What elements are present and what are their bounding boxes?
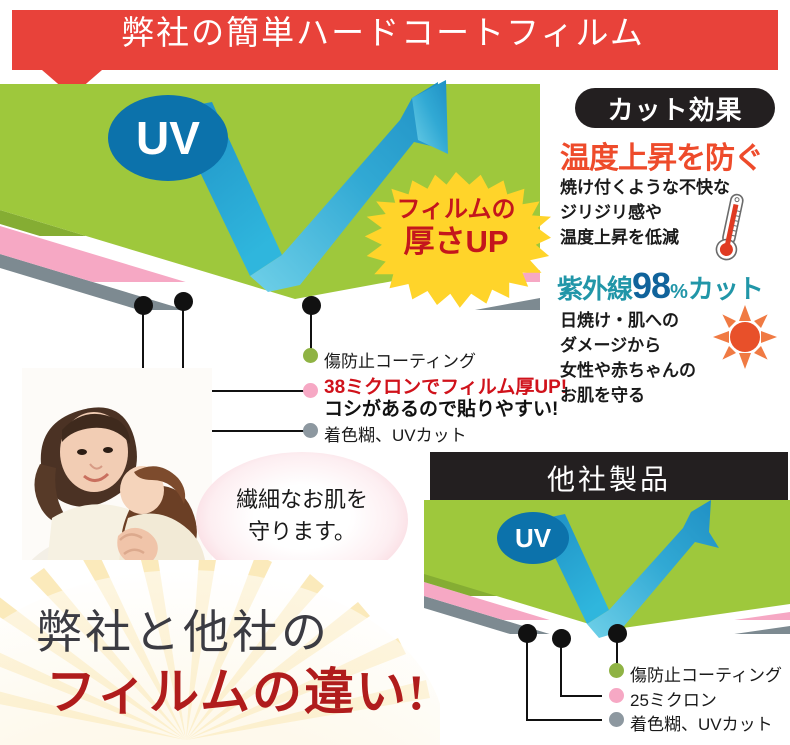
sun-icon (713, 305, 777, 369)
legend-dot-coating (303, 348, 318, 363)
uv-cut-suffix: カット (688, 274, 763, 304)
competitor-legend-label-adhesive: 着色糊、UVカット (630, 710, 773, 735)
cut-effect-badge: カット効果 (575, 88, 775, 128)
uv-cut-headline: 紫外線98%カット (557, 265, 790, 305)
skin-protect-text: 繊細なお肌を 守ります。 (196, 484, 408, 548)
uv-body-line3: 女性や赤ちゃんの (560, 359, 696, 384)
heat-body-line3: 温度上昇を低減 (560, 226, 679, 251)
uv-cut-percent: % (670, 281, 688, 303)
infographic-page: 弊社の簡単ハードコートフィルム UV (0, 0, 790, 745)
competitor-legend-dot-adhesive (609, 712, 624, 727)
header-title: 弊社の簡単ハードコートフィルム (0, 0, 766, 60)
competitor-leader-film-v (560, 645, 562, 695)
legend-dot-pink (303, 383, 318, 398)
thermometer-icon (707, 189, 755, 266)
competitor-leader-film-h (560, 695, 602, 697)
heat-body-line2: ジリジリ感や (560, 201, 662, 226)
starburst-line2: 厚さUP (361, 224, 551, 261)
uv-body-line2: ダメージから (560, 334, 661, 359)
legend-dot-adhesive (303, 423, 318, 438)
uv-label-bubble-competitor: UV (497, 512, 569, 564)
legend-label-coating: 傷防止コーティング (324, 347, 476, 372)
uv-cut-value: 98 (632, 265, 670, 306)
starburst-line1: フィルムの (361, 196, 551, 224)
competitor-legend-label-coating: 傷防止コーティング (630, 661, 782, 686)
thickness-starburst-text: フィルムの 厚さUP (361, 196, 551, 261)
competitor-legend-dot-coating (609, 663, 624, 678)
heat-headline: 温度上昇を防ぐ (560, 133, 790, 177)
bottom-headline-line2: フィルムの違い! (46, 652, 427, 724)
competitor-leader-adhesive-v (526, 640, 528, 719)
uv-body-line4: お肌を守る (560, 384, 645, 409)
heat-body-line1: 焼け付くような不快な (560, 176, 730, 201)
competitor-banner-title: 他社製品 (430, 452, 788, 504)
legend-label-easy-apply: コシがあるので貼りやすい! (324, 394, 558, 421)
bubble-line2: 守ります。 (196, 516, 408, 548)
competitor-legend-dot-film (609, 688, 624, 703)
uv-cut-prefix: 紫外線 (557, 274, 632, 304)
competitor-legend-label-film: 25ミクロン (630, 686, 717, 711)
uv-body-line1: 日焼け・肌への (560, 309, 679, 334)
competitor-leader-adhesive-h (526, 719, 602, 721)
legend-label-adhesive: 着色糊、UVカット (324, 421, 467, 446)
bubble-line1: 繊細なお肌を (196, 484, 408, 516)
uv-label-bubble-main: UV (108, 95, 228, 181)
